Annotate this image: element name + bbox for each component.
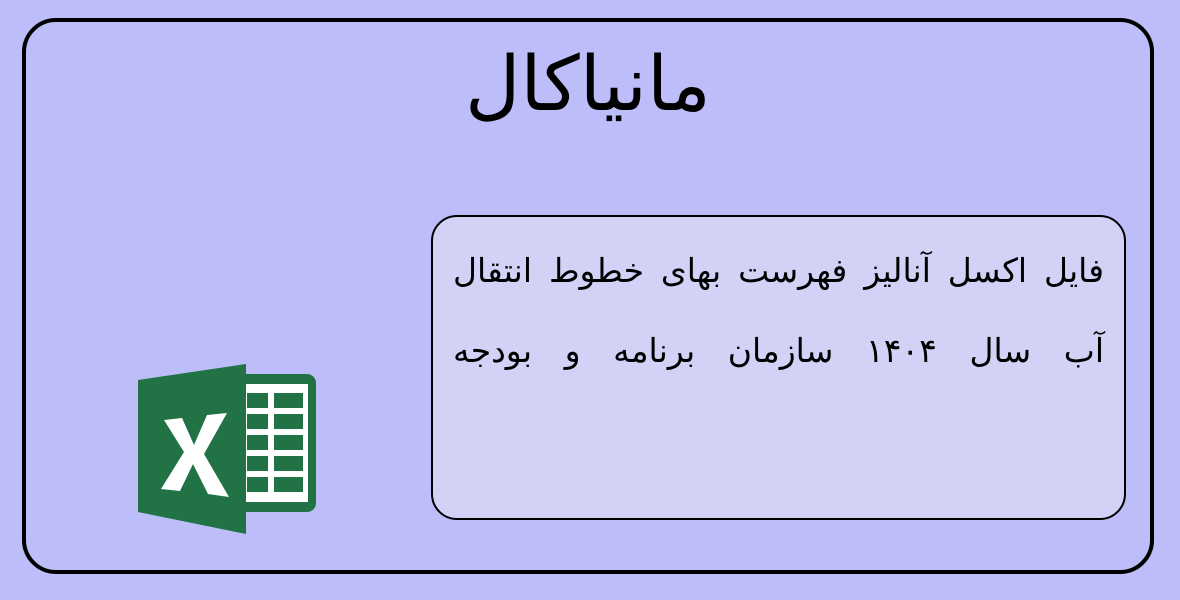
excel-file-icon [134,362,324,540]
page-root: مانیاکال [0,0,1180,600]
description-text: فایل اکسل آنالیز فهرست بهای خطوط انتقال … [453,231,1104,391]
page-title: مانیاکال [26,28,1150,140]
description-box: فایل اکسل آنالیز فهرست بهای خطوط انتقال … [431,215,1126,520]
outer-card-frame: مانیاکال [22,18,1154,574]
